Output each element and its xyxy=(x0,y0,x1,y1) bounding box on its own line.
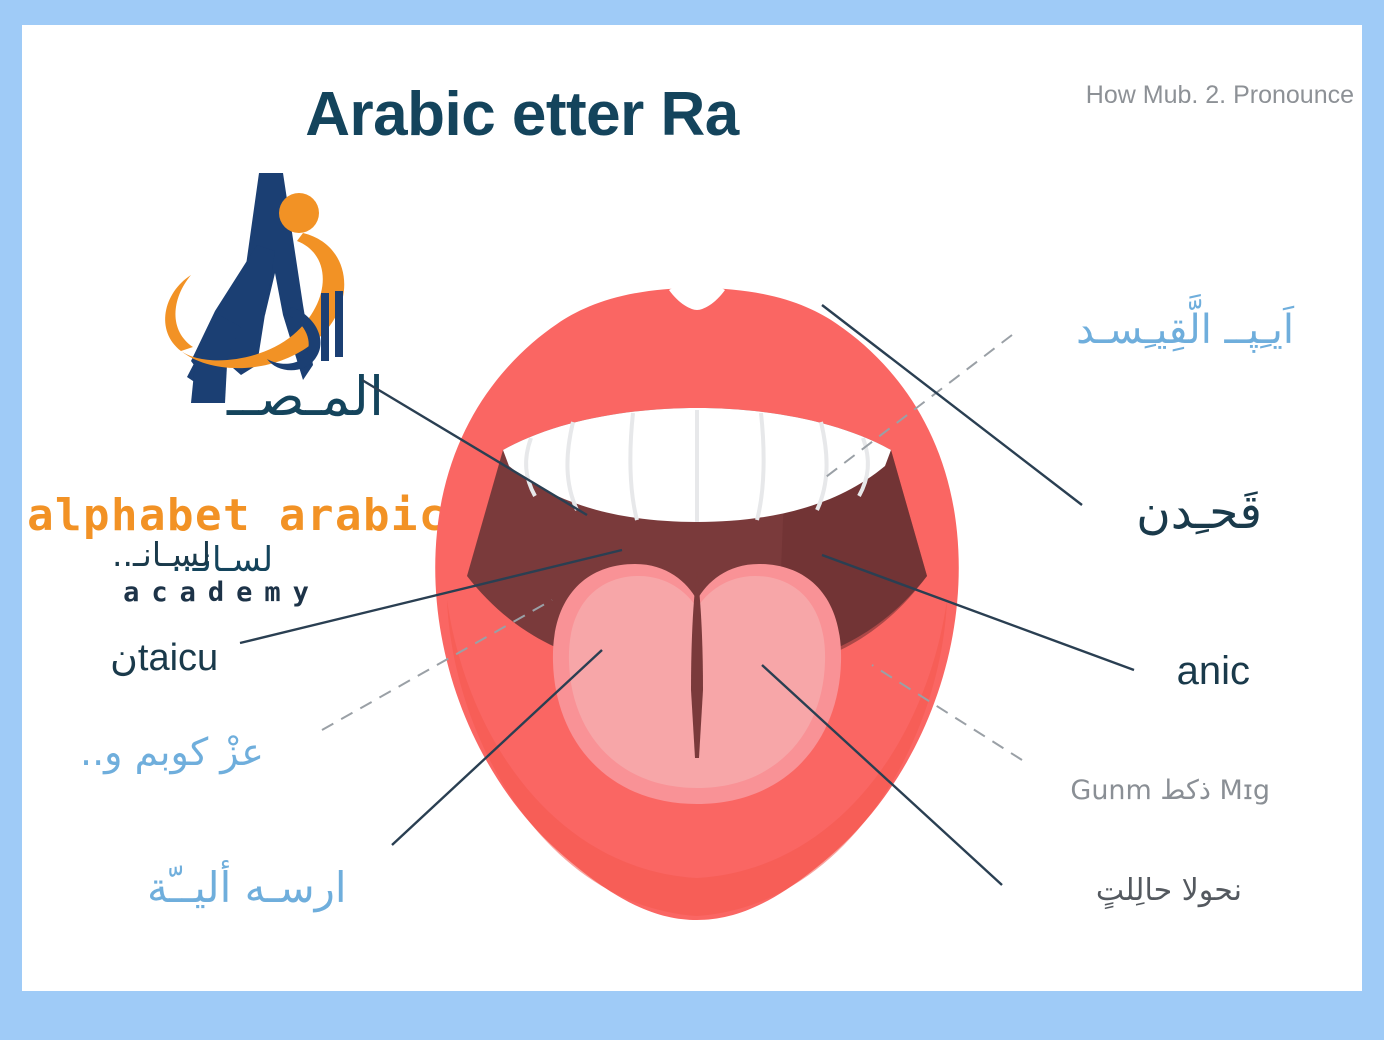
label-right-3: Gunm ذكط Mɪg xyxy=(1070,775,1270,806)
page-frame: Arabic etter Ra How Mub. 2. Pronounce ا xyxy=(0,0,1384,1040)
page-title: Arabic etter Ra xyxy=(22,79,1022,150)
label-left-2: ن‌taicu xyxy=(110,635,218,680)
logo-arabic-script: المـصــ xyxy=(227,365,384,428)
open-mouth-illustration xyxy=(407,270,987,990)
corner-note: How Mub. 2. Pronounce xyxy=(1086,81,1354,110)
label-right-4: نحولا حالِلتٍ xyxy=(1096,873,1242,908)
label-left-3: عزْ كوبم و.. xyxy=(80,730,264,774)
brand-name-primary: alphabet arabic xyxy=(22,490,452,541)
label-left-4: ارسـه أليــّة xyxy=(147,863,347,912)
brand-name-secondary: academy xyxy=(22,577,422,608)
label-right-2: anic xyxy=(1177,649,1250,694)
diagram-canvas: Arabic etter Ra How Mub. 2. Pronounce ا xyxy=(22,25,1362,991)
label-left-1: لسـانـ.. xyxy=(112,535,211,574)
label-right-1: قَحـِدن xyxy=(1136,485,1262,540)
brand-logo: المـصــ alphabet arabic لسـانـ.. academy xyxy=(22,165,452,635)
brand-name-arabic: لسـانـ.. xyxy=(22,540,422,580)
label-top-right: اَيـِپــ الَّقِيـِسـد xyxy=(1076,307,1294,353)
